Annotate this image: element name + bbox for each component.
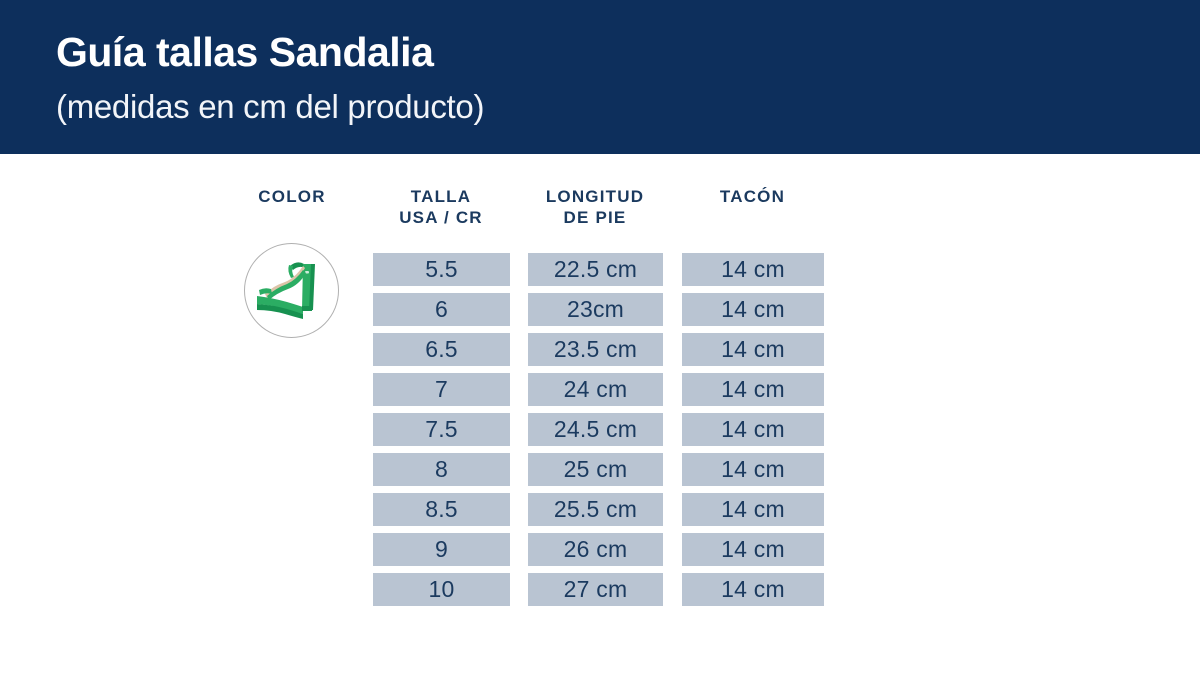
- green-platform-sandal-icon: [245, 244, 338, 337]
- cell-talla-usa-cr-row-4: 7: [373, 373, 510, 406]
- cell-talla-usa-cr-row-5: 7.5: [373, 413, 510, 446]
- header-band: [0, 0, 1200, 154]
- page-subtitle: (medidas en cm del producto): [56, 90, 484, 123]
- cell-tacon-row-5: 14 cm: [682, 413, 824, 446]
- cell-longitud-de-pie-row-5: 24.5 cm: [528, 413, 663, 446]
- page-title: Guía tallas Sandalia: [56, 32, 433, 73]
- cell-tacon-row-4: 14 cm: [682, 373, 824, 406]
- cell-longitud-de-pie-row-4: 24 cm: [528, 373, 663, 406]
- column-header-talla-line2: USA / CR: [373, 207, 509, 228]
- cell-tacon-row-3: 14 cm: [682, 333, 824, 366]
- cell-tacon-row-8: 14 cm: [682, 533, 824, 566]
- cell-talla-usa-cr-row-7: 8.5: [373, 493, 510, 526]
- column-header-tacon: TACÓN: [682, 186, 823, 207]
- column-header-talla: TALLA USA / CR: [373, 186, 509, 228]
- column-header-longitud-de-pie: LONGITUD DE PIE: [528, 186, 662, 228]
- cell-talla-usa-cr-row-9: 10: [373, 573, 510, 606]
- cell-longitud-de-pie-row-2: 23cm: [528, 293, 663, 326]
- column-header-talla-line1: TALLA: [373, 186, 509, 207]
- cell-talla-usa-cr-row-8: 9: [373, 533, 510, 566]
- cell-tacon-row-6: 14 cm: [682, 453, 824, 486]
- cell-longitud-de-pie-row-9: 27 cm: [528, 573, 663, 606]
- cell-longitud-de-pie-row-6: 25 cm: [528, 453, 663, 486]
- cell-talla-usa-cr-row-6: 8: [373, 453, 510, 486]
- cell-tacon-row-9: 14 cm: [682, 573, 824, 606]
- size-guide-table: COLOR TALLA USA / CR LONGITUD DE PIE TAC…: [0, 154, 1200, 697]
- cell-longitud-de-pie-row-3: 23.5 cm: [528, 333, 663, 366]
- cell-tacon-row-1: 14 cm: [682, 253, 824, 286]
- cell-longitud-de-pie-row-8: 26 cm: [528, 533, 663, 566]
- column-header-longitud-line1: LONGITUD: [528, 186, 662, 207]
- cell-longitud-de-pie-row-1: 22.5 cm: [528, 253, 663, 286]
- cell-talla-usa-cr-row-3: 6.5: [373, 333, 510, 366]
- cell-talla-usa-cr-row-1: 5.5: [373, 253, 510, 286]
- column-header-color: COLOR: [228, 186, 356, 207]
- cell-tacon-row-7: 14 cm: [682, 493, 824, 526]
- cell-talla-usa-cr-row-2: 6: [373, 293, 510, 326]
- cell-longitud-de-pie-row-7: 25.5 cm: [528, 493, 663, 526]
- cell-tacon-row-2: 14 cm: [682, 293, 824, 326]
- column-header-longitud-line2: DE PIE: [528, 207, 662, 228]
- color-swatch-thumbnail: [244, 243, 339, 338]
